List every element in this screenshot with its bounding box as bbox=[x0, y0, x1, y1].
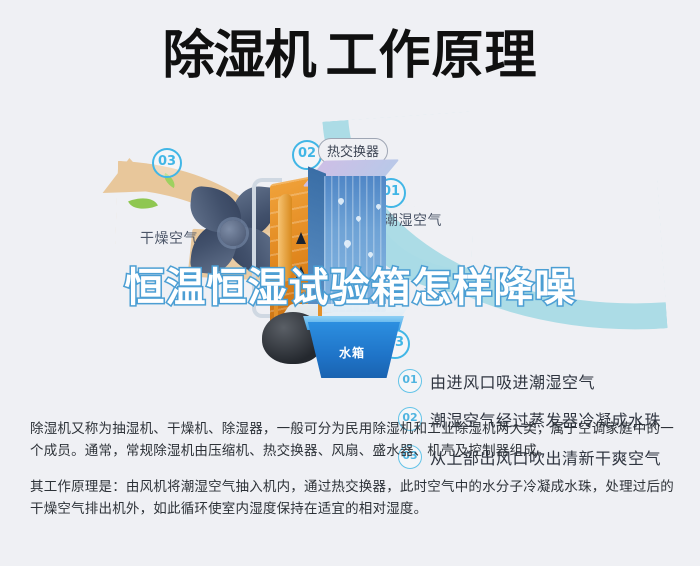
infographic-page: 除湿机工作原理 干燥空气 潮湿空气 03 02 01 03 热交换器 bbox=[0, 0, 700, 566]
page-title-part1: 除湿机 bbox=[162, 26, 315, 86]
diagram-badge-03-left: 03 bbox=[152, 148, 182, 178]
airflow-arrow-icon bbox=[296, 232, 306, 244]
dehumidifier-unit-graphic: 水箱 bbox=[252, 154, 412, 354]
body-paragraph-2: 其工作原理是：由风机将潮湿空气抽入机内，通过热交换器，此时空气中的水分子冷凝成水… bbox=[30, 476, 676, 520]
dry-air-arrowhead-icon bbox=[101, 157, 158, 193]
watermark-text: 恒温恒湿试验箱怎样降噪 bbox=[0, 264, 700, 312]
article-body: 除湿机又称为抽湿机、干燥机、除湿器，一般可分为民用除湿机和工业除湿机两大类，属于… bbox=[30, 418, 676, 534]
legend-item: 01 由进风口吸进潮湿空气 bbox=[398, 366, 690, 396]
dehumidifier-diagram: 干燥空气 潮湿空气 03 02 01 03 热交换器 bbox=[0, 120, 700, 385]
body-paragraph-1: 除湿机又称为抽湿机、干燥机、除湿器，一般可分为民用除湿机和工业除湿机两大类，属于… bbox=[30, 418, 676, 462]
fan-hub bbox=[220, 220, 246, 246]
legend-text-01: 由进风口吸进潮湿空气 bbox=[430, 369, 595, 393]
page-title-part2: 工作原理 bbox=[326, 26, 538, 86]
page-title: 除湿机工作原理 bbox=[0, 24, 700, 88]
water-tank-label: 水箱 bbox=[304, 344, 400, 361]
legend-badge-01: 01 bbox=[398, 369, 422, 393]
